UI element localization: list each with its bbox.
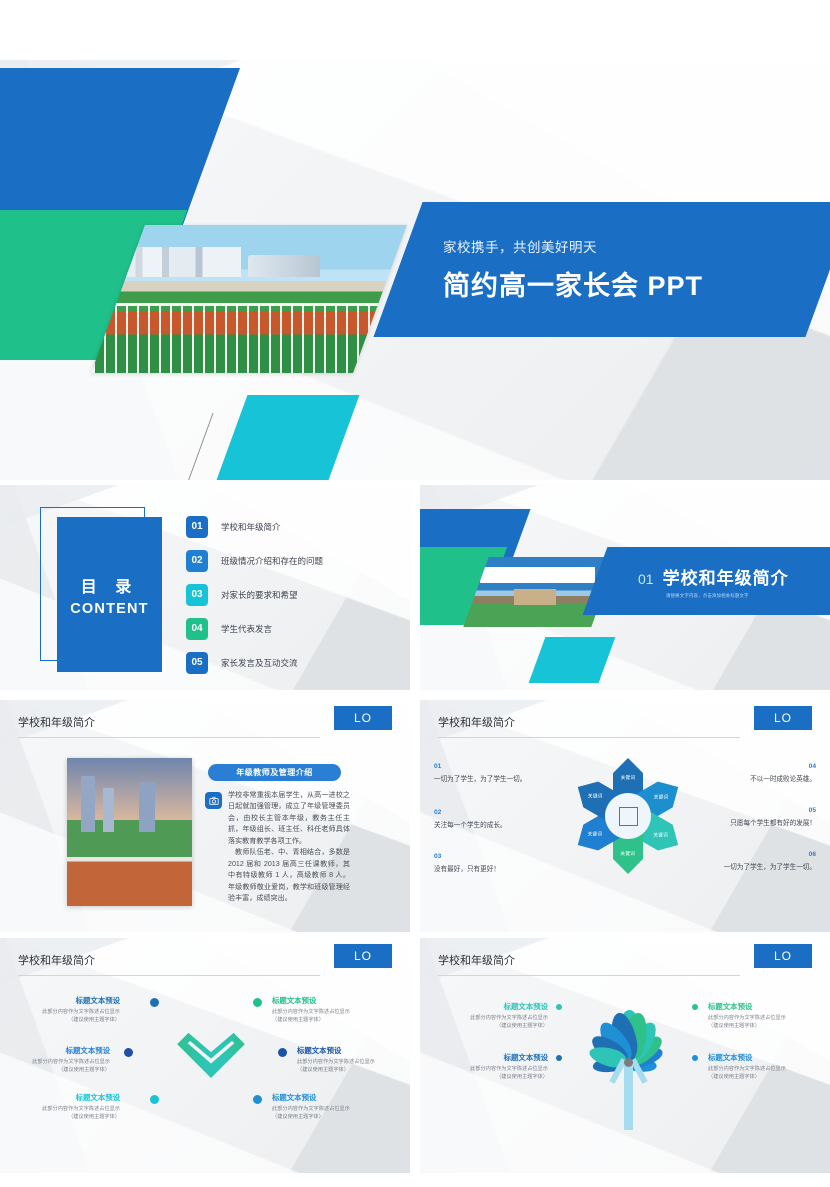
node-title: 标题文本预设 <box>18 1046 110 1057</box>
petal-label: 关键词 <box>654 832 669 838</box>
node-text-left-2: 标题文本预设 此部分内容作为文字陈述占位显示 （建议使用主题字体） <box>18 1046 110 1074</box>
slide-petal-diagram[interactable]: 学校和年级简介 LO 关键词 关键词 关键词 关键词 关键词 关键词 01 一切… <box>420 700 830 932</box>
node-line-1: 此部分内容作为文字陈述占位显示 <box>28 1009 120 1017</box>
node-text-right-2: 标题文本预设 此部分内容作为文字陈述占位显示 （建议使用主题字体） <box>297 1046 389 1074</box>
petal-diagram: 关键词 关键词 关键词 关键词 关键词 关键词 <box>568 756 688 876</box>
slide-table-of-contents[interactable]: 目 录 CONTENT 01 学校和年级简介 02 班级情况介绍和存在的问题 0… <box>0 485 410 690</box>
section-title: 学校和年级简介 <box>663 564 789 589</box>
node-line-2: （建议使用主题字体） <box>297 1067 389 1075</box>
node-line-2: （建议使用主题字体） <box>272 1114 364 1122</box>
toc-number-badge: 03 <box>186 584 208 606</box>
logo-badge: LO <box>754 706 812 730</box>
toc-item-label: 家长发言及互动交流 <box>221 657 298 669</box>
petal-label: 关键词 <box>588 794 603 800</box>
header-divider <box>438 737 740 738</box>
node-title: 标题文本预设 <box>297 1046 389 1057</box>
petal-item-02: 02 关注每一个学生的成长。 <box>434 808 530 831</box>
petal-item-text: 一切为了学生，为了学生一切。 <box>724 864 816 871</box>
node-dot[interactable] <box>692 1055 698 1061</box>
petal-label: 关键词 <box>654 794 669 800</box>
diagram-center <box>605 793 651 839</box>
petal-label: 关键词 <box>588 832 603 838</box>
school-photo <box>67 758 192 906</box>
page-title: 简约高一家长会 PPT <box>443 264 830 303</box>
petal-item-04: 04 不以一时成败论英雄。 <box>720 762 816 785</box>
node-text-left-1: 标题文本预设 此部分内容作为文字陈述占位显示 （建议使用主题字体） <box>430 1002 548 1030</box>
node-title: 标题文本预设 <box>430 1002 548 1013</box>
toc-list: 01 学校和年级简介 02 班级情况介绍和存在的问题 03 对家长的要求和希望 … <box>186 511 401 681</box>
petal-item-text: 关注每一个学生的成长。 <box>434 822 507 829</box>
intro-paragraph-1: 学校非常重视本届学生，从高一进校之日起就加强管理，成立了年级管理委员会，由校长主… <box>228 790 350 847</box>
petal-item-number: 04 <box>720 762 816 772</box>
node-text-right-2: 标题文本预设 此部分内容作为文字陈述占位显示 （建议使用主题字体） <box>708 1053 826 1081</box>
petal-item-number: 01 <box>434 762 530 772</box>
title-subtitle: 家校携手，共创美好明天 <box>443 236 830 256</box>
presentation-preview-page: 家校携手，共创美好明天 简约高一家长会 PPT 目 录 CONTENT 01 学… <box>0 0 830 1187</box>
petal-label: 关键词 <box>621 851 636 857</box>
title-text-group: 家校携手，共创美好明天 简约高一家长会 PPT <box>415 202 830 337</box>
title-photo <box>91 225 407 373</box>
toc-heading-cn: 目 录 <box>81 573 138 597</box>
petal-item-06: 06 一切为了学生，为了学生一切。 <box>720 850 816 873</box>
node-line-1: 此部分内容作为文字陈述占位显示 <box>708 1066 826 1074</box>
toc-number-badge: 05 <box>186 652 208 674</box>
node-dot[interactable] <box>124 1048 133 1057</box>
tree-leaves-shape <box>568 996 688 1131</box>
petal-item-text: 没有最好，只有更好！ <box>434 866 500 873</box>
toc-heading-card: 目 录 CONTENT <box>57 517 162 672</box>
tree-hub <box>624 1058 633 1067</box>
node-line-2: （建议使用主题字体） <box>430 1074 548 1082</box>
node-dot[interactable] <box>278 1048 287 1057</box>
tree-trunk <box>624 1062 633 1130</box>
decor-outline-shape <box>0 413 214 480</box>
node-text-right-1: 标题文本预设 此部分内容作为文字陈述占位显示 （建议使用主题字体） <box>708 1002 826 1030</box>
square-icon <box>619 807 638 826</box>
node-dot[interactable] <box>556 1055 562 1061</box>
node-text-right-3: 标题文本预设 此部分内容作为文字陈述占位显示 （建议使用主题字体） <box>272 1093 364 1121</box>
list-item[interactable]: 02 班级情况介绍和存在的问题 <box>186 545 401 576</box>
node-line-1: 此部分内容作为文字陈述占位显示 <box>430 1066 548 1074</box>
section-text-group: 01 学校和年级简介 请替换文字内容，点击添加相关标题文字 <box>616 547 830 615</box>
node-dot[interactable] <box>253 998 262 1007</box>
node-text-left-3: 标题文本预设 此部分内容作为文字陈述占位显示 （建议使用主题字体） <box>28 1093 120 1121</box>
node-line-2: （建议使用主题字体） <box>430 1023 548 1031</box>
toc-number-badge: 02 <box>186 550 208 572</box>
node-title: 标题文本预设 <box>708 1002 826 1013</box>
petal-item-number: 05 <box>720 806 816 816</box>
petal-item-text: 不以一时成败论英雄。 <box>750 776 816 783</box>
node-title: 标题文本预设 <box>272 996 364 1007</box>
node-line-2: （建议使用主题字体） <box>18 1067 110 1075</box>
header-divider <box>438 975 740 976</box>
toc-item-label: 班级情况介绍和存在的问题 <box>221 555 323 567</box>
node-title: 标题文本预设 <box>28 1093 120 1104</box>
node-title: 标题文本预设 <box>708 1053 826 1064</box>
list-item[interactable]: 04 学生代表发言 <box>186 613 401 644</box>
petal-item-05: 05 只愿每个学生都有好的发展！ <box>720 806 816 829</box>
logo-badge: LO <box>754 944 812 968</box>
petal-item-text: 一切为了学生，为了学生一切。 <box>434 776 526 783</box>
node-title: 标题文本预设 <box>28 996 120 1007</box>
camera-icon <box>205 792 222 809</box>
logo-badge: LO <box>334 944 392 968</box>
header-divider <box>18 737 320 738</box>
slide-tree-diagram[interactable]: 学校和年级简介 LO 标题文本预设 此部分内容作为文字陈述占位显示 （建议使用主… <box>420 938 830 1173</box>
node-dot[interactable] <box>692 1004 698 1010</box>
toc-item-label: 学校和年级简介 <box>221 521 281 533</box>
node-line-1: 此部分内容作为文字陈述占位显示 <box>430 1015 548 1023</box>
node-dot[interactable] <box>150 1095 159 1104</box>
section-number: 01 <box>638 571 654 587</box>
slide-heart-diagram[interactable]: 学校和年级简介 LO 标题文本预设 此部分内容作为文字陈述占位显示 （建议使用主… <box>0 938 410 1173</box>
petal-item-number: 06 <box>720 850 816 860</box>
petal-item-03: 03 没有最好，只有更好！ <box>434 852 530 875</box>
toc-number-badge: 01 <box>186 516 208 538</box>
node-line-2: （建议使用主题字体） <box>28 1017 120 1025</box>
toc-item-label: 学生代表发言 <box>221 623 272 635</box>
node-line-1: 此部分内容作为文字陈述占位显示 <box>28 1106 120 1114</box>
petal-label: 关键词 <box>621 775 636 781</box>
node-line-2: （建议使用主题字体） <box>708 1074 826 1082</box>
node-dot[interactable] <box>556 1004 562 1010</box>
intro-paragraph-2: 教师队伍老、中、青相结合，多数是 2012 届和 2013 届高三任课教师，其中… <box>228 847 350 904</box>
list-item[interactable]: 05 家长发言及互动交流 <box>186 647 401 678</box>
node-text-left-1: 标题文本预设 此部分内容作为文字陈述占位显示 （建议使用主题字体） <box>28 996 120 1024</box>
header-divider <box>18 975 320 976</box>
node-line-1: 此部分内容作为文字陈述占位显示 <box>272 1106 364 1114</box>
node-title: 标题文本预设 <box>430 1053 548 1064</box>
node-line-2: （建议使用主题字体） <box>28 1114 120 1122</box>
slide-title[interactable]: 家校携手，共创美好明天 简约高一家长会 PPT <box>0 60 830 480</box>
node-dot[interactable] <box>150 998 159 1007</box>
toc-number-badge: 04 <box>186 618 208 640</box>
list-item[interactable]: 03 对家长的要求和希望 <box>186 579 401 610</box>
list-item[interactable]: 01 学校和年级简介 <box>186 511 401 542</box>
node-line-1: 此部分内容作为文字陈述占位显示 <box>297 1059 389 1067</box>
intro-paragraphs: 学校非常重视本届学生，从高一进校之日起就加强管理，成立了年级管理委员会，由校长主… <box>228 790 350 905</box>
node-title: 标题文本预设 <box>272 1093 364 1104</box>
node-line-1: 此部分内容作为文字陈述占位显示 <box>708 1015 826 1023</box>
node-line-2: （建议使用主题字体） <box>708 1023 826 1031</box>
node-text-left-2: 标题文本预设 此部分内容作为文字陈述占位显示 （建议使用主题字体） <box>430 1053 548 1081</box>
petal-item-text: 只愿每个学生都有好的发展！ <box>730 820 816 827</box>
logo-badge: LO <box>334 706 392 730</box>
toc-item-label: 对家长的要求和希望 <box>221 589 298 601</box>
node-line-1: 此部分内容作为文字陈述占位显示 <box>272 1009 364 1017</box>
petal-item-01: 01 一切为了学生，为了学生一切。 <box>434 762 530 785</box>
node-text-right-1: 标题文本预设 此部分内容作为文字陈述占位显示 （建议使用主题字体） <box>272 996 364 1024</box>
section-tip-text: 请替换文字内容，点击添加相关标题文字 <box>666 593 830 599</box>
status-badge: 年级教师及管理介绍 <box>208 764 341 781</box>
heart-outline-shape <box>170 1028 252 1086</box>
slide-section-divider[interactable]: 01 学校和年级简介 请替换文字内容，点击添加相关标题文字 <box>420 485 830 690</box>
petal-item-number: 02 <box>434 808 530 818</box>
node-line-2: （建议使用主题字体） <box>272 1017 364 1025</box>
petal-item-number: 03 <box>434 852 530 862</box>
slide-school-intro[interactable]: 学校和年级简介 LO 年级教师及管理介绍 学校非常重视本届学生，从高一进校之日起… <box>0 700 410 932</box>
node-line-1: 此部分内容作为文字陈述占位显示 <box>18 1059 110 1067</box>
node-dot[interactable] <box>253 1095 262 1104</box>
toc-heading-en: CONTENT <box>70 601 148 617</box>
